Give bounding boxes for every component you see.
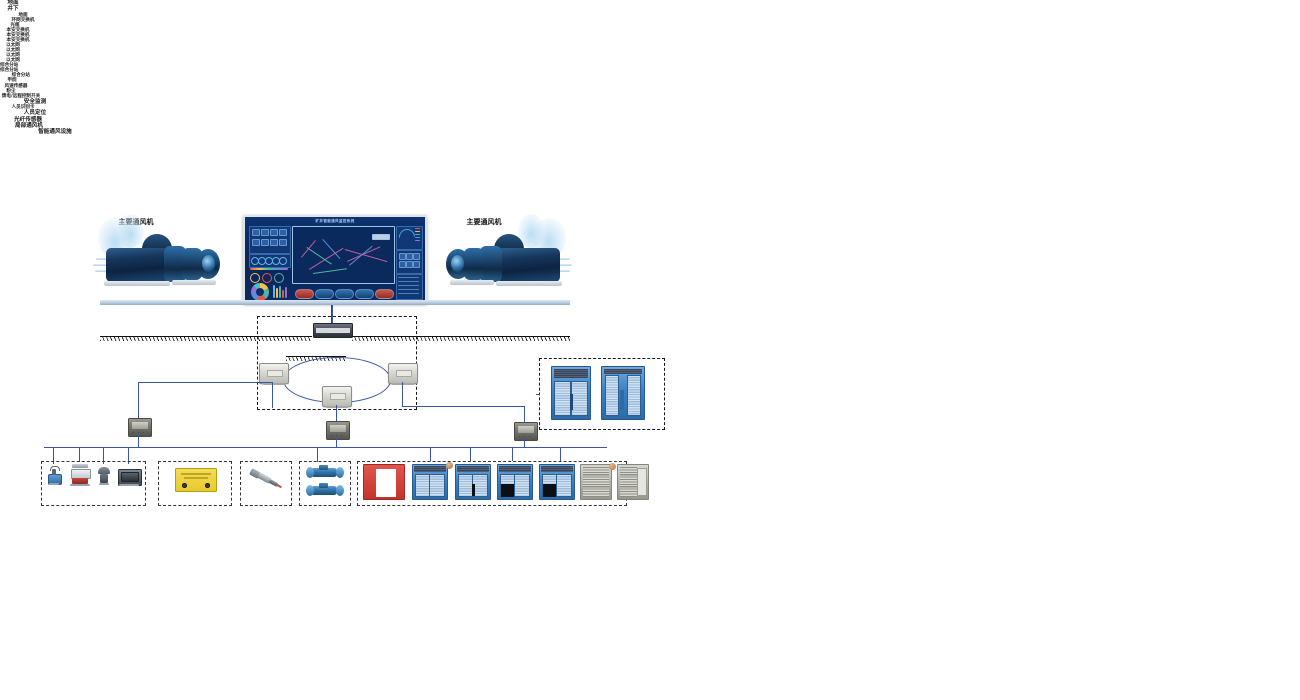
ground-platform-bar [100,300,570,305]
panel-icon [406,253,413,260]
shaft-ventilation-door[interactable] [551,366,591,420]
door-gap [472,484,475,496]
ring-gauge-icon [262,273,272,283]
panel-icon [413,253,420,260]
legend-swatch [415,231,420,232]
fan-label-right: 主要通风机 [444,218,524,226]
wind-speed-sensor-icon[interactable] [69,464,91,488]
cable-drop-wind [79,447,80,462]
air-window-icon[interactable] [617,464,649,500]
cable-sub2-down [336,438,337,447]
sensor-hook [50,466,60,471]
switch-display [267,370,283,377]
fan-base [450,280,494,285]
air-door-frame-icon[interactable] [363,464,405,500]
ventilation-network-map[interactable] [292,226,395,284]
window-slats-right [627,375,642,416]
sensor-top-cap [72,464,88,468]
sensor-foot [70,484,90,486]
window-handle-icon[interactable] [609,463,616,470]
air-window-icon[interactable] [580,464,612,500]
substation-knob-icon [138,432,139,433]
sensor-hood [98,467,110,474]
cable-bottom-switch-down [336,405,337,421]
legend-swatch [415,234,420,235]
cable-drop-vent-2 [470,447,471,461]
main-ventilator-right: 主要通风机 [444,218,570,296]
ring-gauge-icon [250,273,260,283]
card-text-strip [181,473,211,475]
substation-display [518,426,535,433]
cable-to-substation-3 [524,406,525,422]
substation-knob-icon [331,435,332,436]
fan-motor [319,483,328,488]
fiber-tip [276,484,282,489]
fan-housing [106,248,168,282]
fan-outlet-cap [336,467,344,478]
door-gap [570,394,573,410]
card-button-icon[interactable] [182,483,187,488]
card-text-strip [184,477,208,479]
ventilation-door-icon[interactable] [455,464,491,500]
door-leaf-right [514,474,530,497]
local-ventilator-icon[interactable] [305,465,345,481]
map-legend-chip [372,234,390,240]
screen-action-button[interactable] [355,289,374,299]
switch-display [330,393,346,400]
sensor-foot [49,483,59,485]
mini-bar-chart [273,285,275,298]
panel-icon [252,229,260,236]
door-open-gap [501,484,515,498]
integrated-substation-3[interactable] [514,422,538,441]
panel-icon [279,239,287,246]
door-leaf-left [415,474,431,497]
is-switch-bottom[interactable] [322,386,352,407]
map-edge [323,239,341,259]
switch-foot [119,484,139,486]
shaft-air-window[interactable] [601,366,645,420]
mini-bar-chart [279,286,281,298]
list-row [398,293,419,294]
legend-swatch [415,228,420,229]
methane-sensor-icon[interactable] [45,466,63,488]
monitoring-dashboard-screen[interactable]: 矿井智能通风监控系统 [243,215,427,304]
diagram-canvas: 主要通风机 主要通风机 矿井智能通风监控系统 [0,0,1300,700]
dust-sensor-icon[interactable] [96,466,112,488]
screen-action-button[interactable] [375,289,394,299]
integrated-substation-1[interactable] [128,418,152,437]
map-edge [347,246,380,261]
cable-drop-localfan [317,447,318,462]
panel-icon [261,239,269,246]
list-row [398,277,419,278]
panel-icon [252,239,260,246]
cable-to-shaft-doors [536,394,540,395]
cable-left-switch-down [272,382,273,408]
cable-right-run [402,406,524,407]
list-row [398,289,419,290]
switch-display [396,370,412,377]
door-open-gap [543,484,557,498]
cable-drop-vent-3 [512,447,513,461]
fiber-optic-sensor-icon[interactable] [249,468,285,492]
door-leaf-right [429,474,445,497]
local-ventilator-icon[interactable] [305,483,345,499]
cable-drop-vent-1 [430,447,431,461]
door-header-grille [499,466,530,472]
cable-sub3-down [524,439,525,447]
is-switch-left[interactable] [259,363,289,384]
fan-inlet-cap [306,485,314,496]
fan-inlet-cap [306,467,314,478]
list-row [398,285,419,286]
legend-swatch [415,240,420,241]
fan-base [496,281,562,286]
integrated-substation-2[interactable] [326,421,350,440]
substation-knob-icon [143,432,144,433]
window-side-panel [637,468,646,497]
gauge-icon [279,257,287,265]
fan-motor [319,465,328,470]
fan-base [104,281,170,286]
window-center-gap [620,390,624,410]
ground-ring-switch-label: 地面 环网交换机 [0,13,46,23]
door-handle-icon[interactable] [446,462,453,469]
fan-housing [498,248,560,282]
donut-chart [251,283,269,301]
panel-icon [399,253,406,260]
airflow-puff-icon [118,214,144,248]
cable-bus-right [409,447,607,448]
ventilation-door-icon[interactable] [497,464,533,500]
panel-icon [399,261,406,268]
map-edge [313,268,347,273]
screen-title: 矿井智能通风监控系统 [245,219,425,224]
substation-knob-icon [341,435,342,436]
cable-to-substation-1 [138,382,139,418]
wind-speed-sensor-label: 风速传感器 [0,84,32,89]
switch-faceplate [121,472,139,482]
sensor-body [100,474,108,483]
door-leaf-right [472,474,488,497]
frame-opening [376,469,396,497]
cable-bus-left [44,447,299,448]
personnel-id-card-icon[interactable] [175,468,217,492]
map-edge [301,240,316,257]
door-header-grille [457,466,488,472]
cable-right-switch-down [402,382,403,406]
substation-knob-icon [336,435,337,436]
ring-gauge-icon [274,273,284,283]
door-leaf-right [571,381,588,416]
group-title-smartvent: 智能通风设施 [0,129,110,135]
panel-icon [270,239,278,246]
panel-icon [413,261,420,268]
ventilation-door-icon[interactable] [539,464,575,500]
fan-outlet-cap [336,485,344,496]
substation-knob-icon [529,436,530,437]
cable-drop-vent-4 [560,447,561,461]
remote-control-switch-icon[interactable] [117,466,141,488]
ground-ring-switch[interactable] [313,323,353,338]
fan-hub [451,255,464,272]
cable-sub1-down [138,435,139,447]
card-button-icon[interactable] [205,483,210,488]
panel-icon [406,261,413,268]
door-header-grille [541,466,572,472]
window-slats-left [605,375,620,416]
door-header-grille [414,466,445,472]
window-header-grille [604,369,643,374]
window-louvers [583,467,609,497]
fan-hub [202,255,215,272]
door-header-grille [554,369,589,378]
window-louvers [620,467,637,497]
substation-knob-icon [519,436,520,437]
is-switch-right[interactable] [388,363,418,384]
mini-bar-chart [276,288,278,298]
screen-action-button[interactable] [315,289,334,299]
screen-action-button[interactable] [335,289,354,299]
list-row [398,281,419,282]
panel-icon [270,229,278,236]
fan-base [172,280,216,285]
door-leaf-right [556,474,572,497]
substation-display [330,425,347,432]
remote-control-switch-label: 馈电/远程控制开关 [0,94,42,99]
cable-left-run [138,382,272,383]
mini-bar-chart [282,290,284,298]
substation-knob-icon [524,436,525,437]
legend-swatch [415,237,420,238]
router-antenna-icon [331,305,332,323]
panel-icon [261,229,269,236]
screen-action-button[interactable] [295,289,314,299]
sensor-foot [99,483,109,485]
ventilation-door-icon[interactable] [412,464,448,500]
substation-knob-icon [133,432,134,433]
main-ventilator-left: 主要通风机 [96,218,222,296]
mini-bar-chart [285,287,287,298]
panel-icon [279,229,287,236]
substation-display [132,422,149,429]
